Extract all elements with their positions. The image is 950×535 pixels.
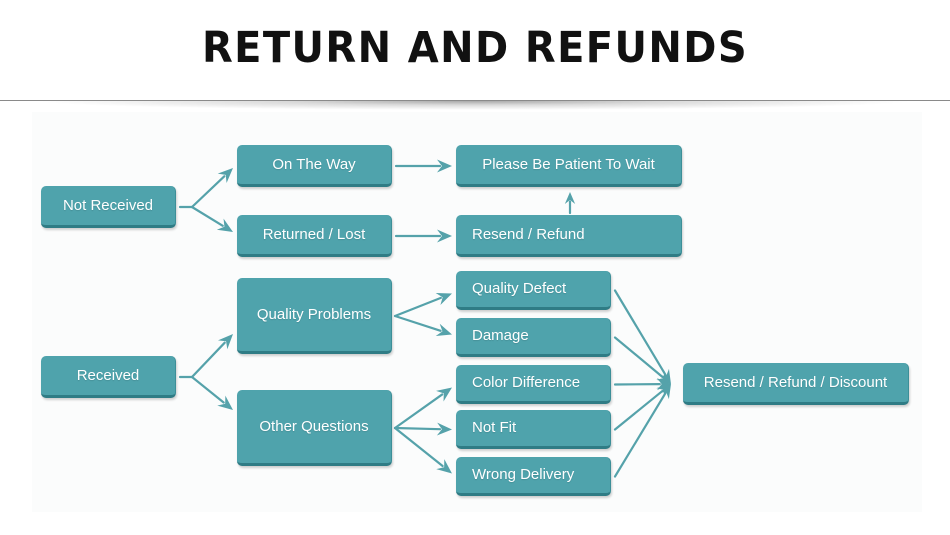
flow-node-received[interactable]: Received [41, 356, 176, 398]
flow-node-label: Quality Problems [257, 306, 371, 323]
flow-node-label: On The Way [272, 156, 355, 173]
flow-node-label: Resend / Refund [472, 226, 585, 243]
edge-qualityproblems-qualitydefect-line [395, 298, 441, 316]
flow-node-label: Damage [472, 327, 529, 344]
slide-header: RETURN AND REFUNDS [0, 0, 950, 100]
edge-wrongdel-resenddiscount-line [615, 394, 665, 477]
flow-node-label: Other Questions [259, 418, 368, 435]
flow-node-label: Received [77, 367, 140, 384]
flow-node-label: Wrong Delivery [472, 466, 574, 483]
flow-node-label: Resend / Refund / Discount [704, 374, 887, 391]
edge-otherquestions-wrongdelivery-line [395, 428, 443, 466]
flow-node-other_q[interactable]: Other Questions [237, 390, 392, 466]
flow-node-label: Returned / Lost [263, 226, 366, 243]
flow-node-quality_probs[interactable]: Quality Problems [237, 278, 392, 354]
edge-notreceived-returnedlost-head [217, 219, 233, 232]
flow-node-not_received[interactable]: Not Received [41, 186, 176, 228]
flow-node-color_diff[interactable]: Color Difference [456, 365, 611, 404]
flow-node-label: Not Fit [472, 419, 516, 436]
flow-node-resend_disc[interactable]: Resend / Refund / Discount [683, 363, 909, 405]
edge-otherquestions-wrongdelivery-head [436, 459, 452, 473]
edge-otherquestions-colordifference-head [436, 388, 452, 402]
flow-node-resend_refund[interactable]: Resend / Refund [456, 215, 682, 257]
edge-qualitydef-resenddiscount-line [615, 291, 665, 375]
edge-otherquestions-notfit-line [395, 428, 440, 429]
flow-node-on_the_way[interactable]: On The Way [237, 145, 392, 187]
flow-node-label: Quality Defect [472, 280, 566, 297]
edge-notreceived-returnedlost-line [192, 207, 223, 226]
flow-node-not_fit[interactable]: Not Fit [456, 410, 611, 449]
flowchart-diagram: Not ReceivedOn The WayReturned / LostPle… [0, 104, 950, 535]
page-title: RETURN AND REFUNDS [33, 22, 917, 74]
flow-node-please_wait[interactable]: Please Be Patient To Wait [456, 145, 682, 187]
flow-node-quality_def[interactable]: Quality Defect [456, 271, 611, 310]
edge-otherquestions-colordifference-line [395, 394, 442, 428]
slide-canvas: RETURN AND REFUNDS Not ReceivedOn The Wa… [0, 0, 950, 535]
edge-received-otherquestions-line [192, 377, 224, 402]
edge-received-otherquestions-head [217, 396, 233, 410]
flow-node-label: Color Difference [472, 374, 580, 391]
edge-qualityproblems-damage-line [395, 316, 441, 331]
flow-node-label: Not Received [63, 197, 153, 214]
flow-node-damage[interactable]: Damage [456, 318, 611, 357]
edge-notreceived-ontheway-line [192, 176, 224, 207]
flow-node-returned_lost[interactable]: Returned / Lost [237, 215, 392, 257]
flow-node-wrong_del[interactable]: Wrong Delivery [456, 457, 611, 496]
edge-received-qualityproblems-line [192, 343, 225, 377]
flow-node-label: Please Be Patient To Wait [482, 156, 655, 173]
